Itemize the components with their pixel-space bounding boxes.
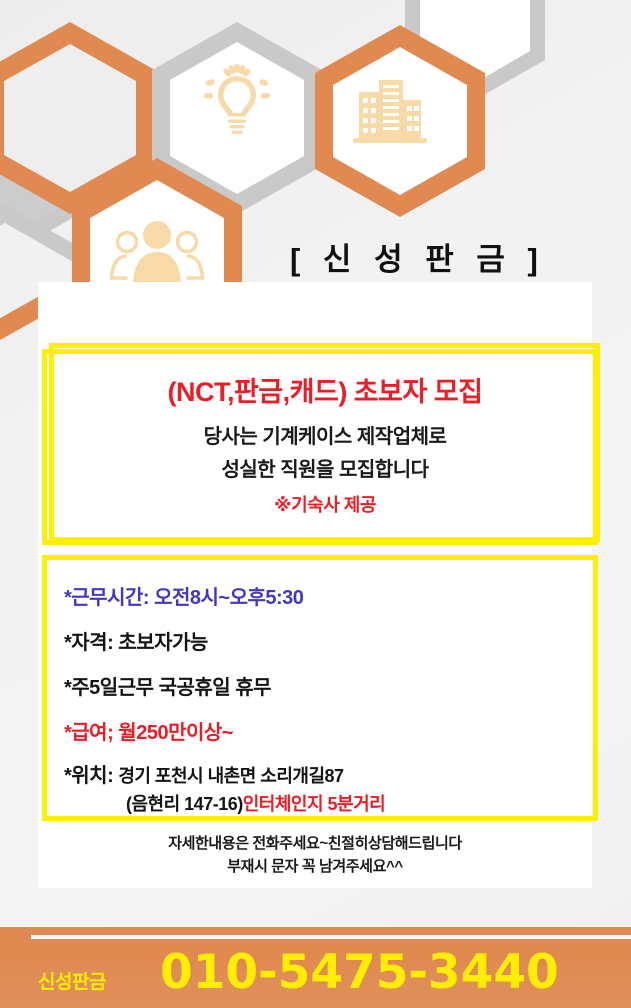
recruit-subline-2: 성실한 직원을 모집합니다 <box>221 453 428 482</box>
buildings-icon <box>353 80 427 143</box>
footnote-line-1: 자세한내용은 전화주세요~친절히상담해드립니다 <box>38 832 592 855</box>
hex-orange-topleft <box>0 22 155 214</box>
recruit-subline-1: 당사는 기계케이스 제작업체로 <box>204 420 447 449</box>
footnote-line-2: 부재시 문자 꼭 남겨주세요^^ <box>38 855 592 878</box>
contact-bar-rule <box>31 935 631 939</box>
detail-location: *위치: 경기 포천시 내촌면 소리개길87 <box>64 759 592 788</box>
people-group-icon <box>112 221 203 283</box>
lightbulb-icon <box>204 64 270 134</box>
hex-grey-left-solid <box>0 50 115 242</box>
detail-qualification: *자격: 초보자가능 <box>64 626 592 655</box>
detail-work-hours: *근무시간: 오전8시~오후5:30 <box>64 581 592 610</box>
hex-grey-lightbulb <box>152 22 322 214</box>
location-interchange-note: 인터체인지 5분거리 <box>243 794 386 814</box>
location-lot-number: (음현리 147-16) <box>126 794 243 814</box>
footnote: 자세한내용은 전화주세요~친절히상담해드립니다 부재시 문자 꼭 남겨주세요^^ <box>38 832 592 879</box>
job-poster: [ 신 성 판 금 ] (NCT,판금,캐드) 초보자 모집 당사는 기계케이스… <box>0 0 631 1008</box>
recruit-box: (NCT,판금,캐드) 초보자 모집 당사는 기계케이스 제작업체로 성실한 직… <box>55 352 595 537</box>
page-title: [ 신 성 판 금 ] <box>290 234 590 279</box>
location-address: 경기 포천시 내촌면 소리개길87 <box>118 766 343 786</box>
details-box: *근무시간: 오전8시~오후5:30 *자격: 초보자가능 *주5일근무 국공휴… <box>58 563 592 815</box>
detail-location-line2: (음현리 147-16)인터체인지 5분거리 <box>64 790 592 816</box>
hex-grey-topright <box>405 0 545 100</box>
detail-pay: *급여; 월250만이상~ <box>64 716 592 745</box>
detail-schedule: *주5일근무 국공휴일 휴무 <box>64 671 592 700</box>
dormitory-note: ※기숙사 제공 <box>274 491 376 517</box>
contact-phone-number[interactable]: 010-5475-3440 <box>160 945 559 1000</box>
recruit-headline: (NCT,판금,캐드) 초보자 모집 <box>167 370 482 409</box>
contact-bar-brand: 신성판금 <box>38 967 106 994</box>
contact-bar: 신성판금 010-5475-3440 <box>0 927 631 1008</box>
location-label: *위치: <box>64 765 113 787</box>
hex-orange-buildings <box>315 25 485 217</box>
